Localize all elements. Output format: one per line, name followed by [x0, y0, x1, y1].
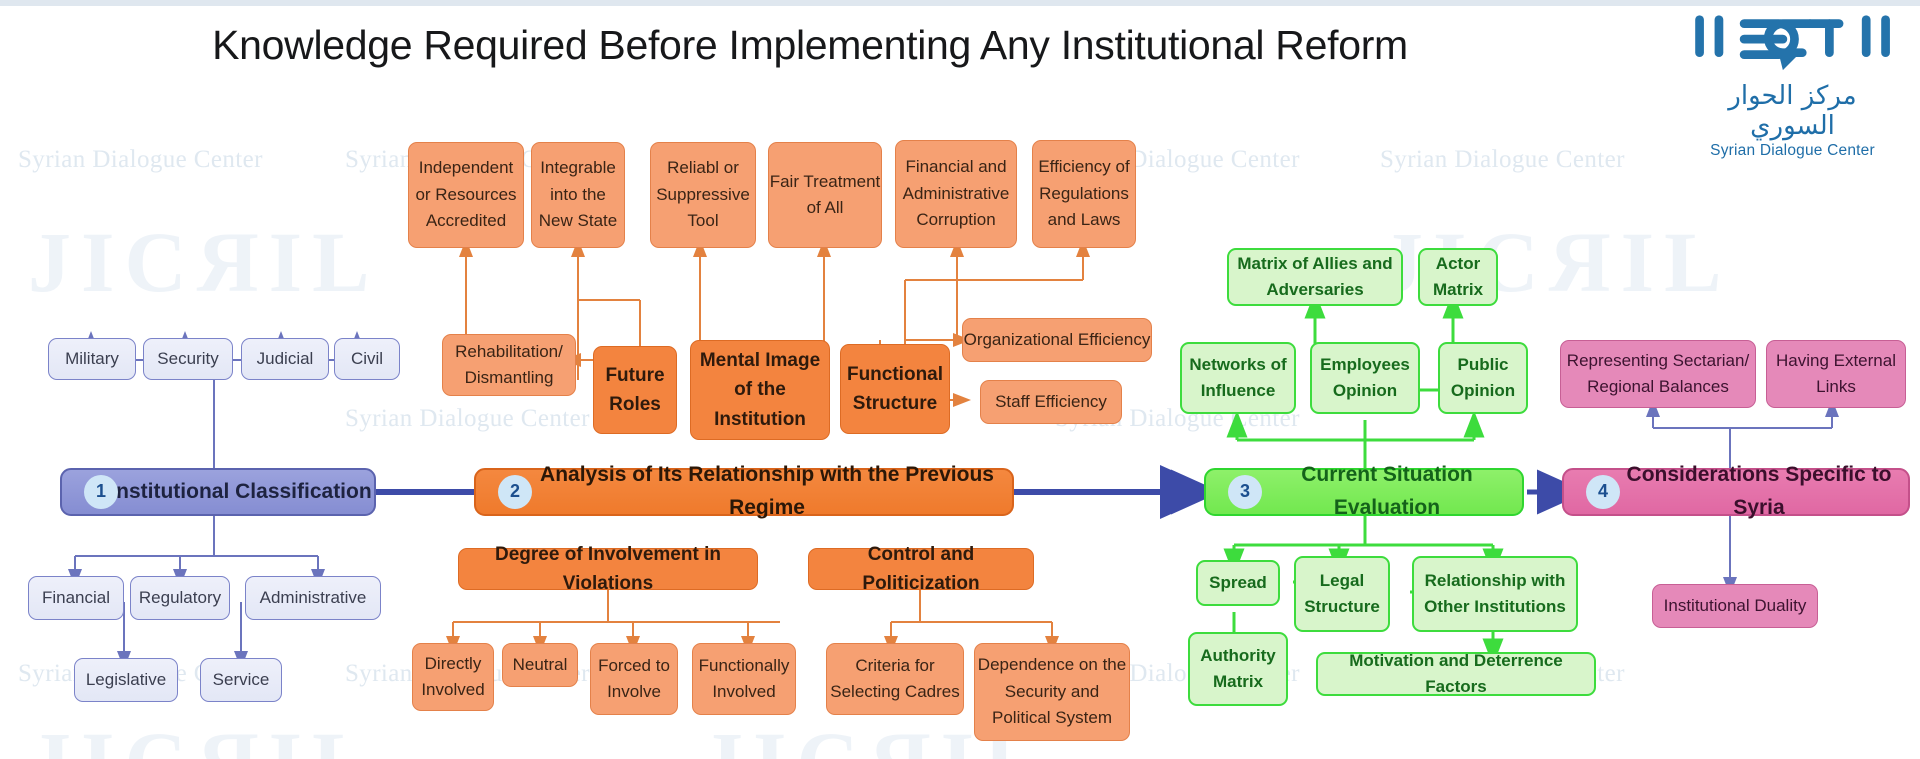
watermark: Syrian Dialogue Center	[345, 405, 590, 433]
node-military[interactable]: Military	[48, 338, 136, 380]
node-control-and-politicization[interactable]: Control and Politicization	[808, 548, 1034, 590]
pillar-2[interactable]: 2 Analysis of Its Relationship with the …	[474, 468, 1014, 516]
node-public-opinion[interactable]: Public Opinion	[1438, 342, 1528, 414]
node-service[interactable]: Service	[200, 658, 282, 702]
node-mental-image-of-the-institution[interactable]: Mental Image of the Institution	[690, 340, 830, 440]
pillar-1-number: 1	[84, 475, 118, 509]
node-criteria-for-selecting-cadres[interactable]: Criteria for Selecting Cadres	[826, 643, 964, 715]
node-reliable-or-suppressive-tool[interactable]: Reliabl or Suppressive Tool	[650, 142, 756, 248]
node-future-roles[interactable]: Future Roles	[593, 346, 677, 434]
brand-mark-icon	[1686, 12, 1899, 74]
node-legal-structure[interactable]: Legal Structure	[1294, 556, 1390, 632]
node-institutional-duality[interactable]: Institutional Duality	[1652, 584, 1818, 628]
node-financial-administrative-corruption[interactable]: Financial and Administrative Corruption	[895, 140, 1017, 248]
page-title: Knowledge Required Before Implementing A…	[0, 22, 1620, 69]
node-networks-of-influence[interactable]: Networks of Influence	[1180, 342, 1296, 414]
node-administrative[interactable]: Administrative	[245, 576, 381, 620]
node-functionally-involved[interactable]: Functionally Involved	[692, 643, 796, 715]
node-directly-involved[interactable]: Directly Involved	[412, 643, 494, 711]
node-dependence-on-security-political-system[interactable]: Dependence on the Security and Political…	[974, 643, 1130, 741]
node-relationship-with-other-institutions[interactable]: Relationship with Other Institutions	[1412, 556, 1578, 632]
node-spread[interactable]: Spread	[1196, 560, 1280, 606]
node-actor-matrix[interactable]: Actor Matrix	[1418, 248, 1498, 306]
node-civil[interactable]: Civil	[334, 338, 400, 380]
node-matrix-of-allies-and-adversaries[interactable]: Matrix of Allies and Adversaries	[1227, 248, 1403, 306]
top-accent-bar	[0, 0, 1920, 6]
watermark-logo: JICЯIL	[28, 212, 380, 312]
pillar-4[interactable]: 4 Considerations Specific to Syria	[1562, 468, 1910, 516]
watermark-logo: JICЯIL	[28, 712, 380, 759]
node-rehabilitation-dismantling[interactable]: Rehabilitation/ Dismantling	[442, 334, 576, 396]
node-authority-matrix[interactable]: Authority Matrix	[1188, 632, 1288, 706]
node-motivation-and-deterrence-factors[interactable]: Motivation and Deterrence Factors	[1316, 652, 1596, 696]
node-representing-sectarian-regional-balances[interactable]: Representing Sectarian/ Regional Balance…	[1560, 340, 1756, 408]
node-efficiency-of-regulations-and-laws[interactable]: Efficiency of Regulations and Laws	[1032, 140, 1136, 248]
pillar-4-number: 4	[1586, 475, 1620, 509]
watermark: Syrian Dialogue Center	[18, 146, 263, 174]
node-having-external-links[interactable]: Having External Links	[1766, 340, 1906, 408]
node-forced-to-involve[interactable]: Forced to Involve	[590, 643, 678, 715]
node-regulatory[interactable]: Regulatory	[130, 576, 230, 620]
pillar-1[interactable]: 1 Institutional Classification	[60, 468, 376, 516]
node-judicial[interactable]: Judicial	[241, 338, 329, 380]
logo: مركز الحوار السوري Syrian Dialogue Cente…	[1685, 12, 1900, 160]
node-security[interactable]: Security	[143, 338, 233, 380]
pillar-2-number: 2	[498, 475, 532, 509]
node-independent-or-resources-accredited[interactable]: Independent or Resources Accredited	[408, 142, 524, 248]
pillar-3-number: 3	[1228, 475, 1262, 509]
node-functional-structure[interactable]: Functional Structure	[840, 344, 950, 434]
node-employees-opinion[interactable]: Employees Opinion	[1310, 342, 1420, 414]
diagram-canvas: Syrian Dialogue Center Syrian Dialogue C…	[0, 0, 1920, 759]
node-integrable-into-new-state[interactable]: Integrable into the New State	[531, 142, 625, 248]
logo-english-text: Syrian Dialogue Center	[1685, 142, 1900, 160]
node-degree-of-involvement-in-violations[interactable]: Degree of Involvement in Violations	[458, 548, 758, 590]
logo-arabic-text: مركز الحوار السوري	[1685, 81, 1900, 141]
node-staff-efficiency[interactable]: Staff Efficiency	[980, 380, 1122, 424]
pillar-3[interactable]: 3 Current Situation Evaluation	[1204, 468, 1524, 516]
node-financial[interactable]: Financial	[28, 576, 124, 620]
node-fair-treatment-of-all[interactable]: Fair Treatment of All	[768, 142, 882, 248]
pillar-2-label: Analysis of Its Relationship with the Pr…	[476, 459, 1012, 524]
watermark: Syrian Dialogue Center	[1380, 146, 1625, 174]
node-legislative[interactable]: Legislative	[74, 658, 178, 702]
node-organizational-efficiency[interactable]: Organizational Efficiency	[962, 318, 1152, 362]
node-neutral[interactable]: Neutral	[502, 643, 578, 687]
